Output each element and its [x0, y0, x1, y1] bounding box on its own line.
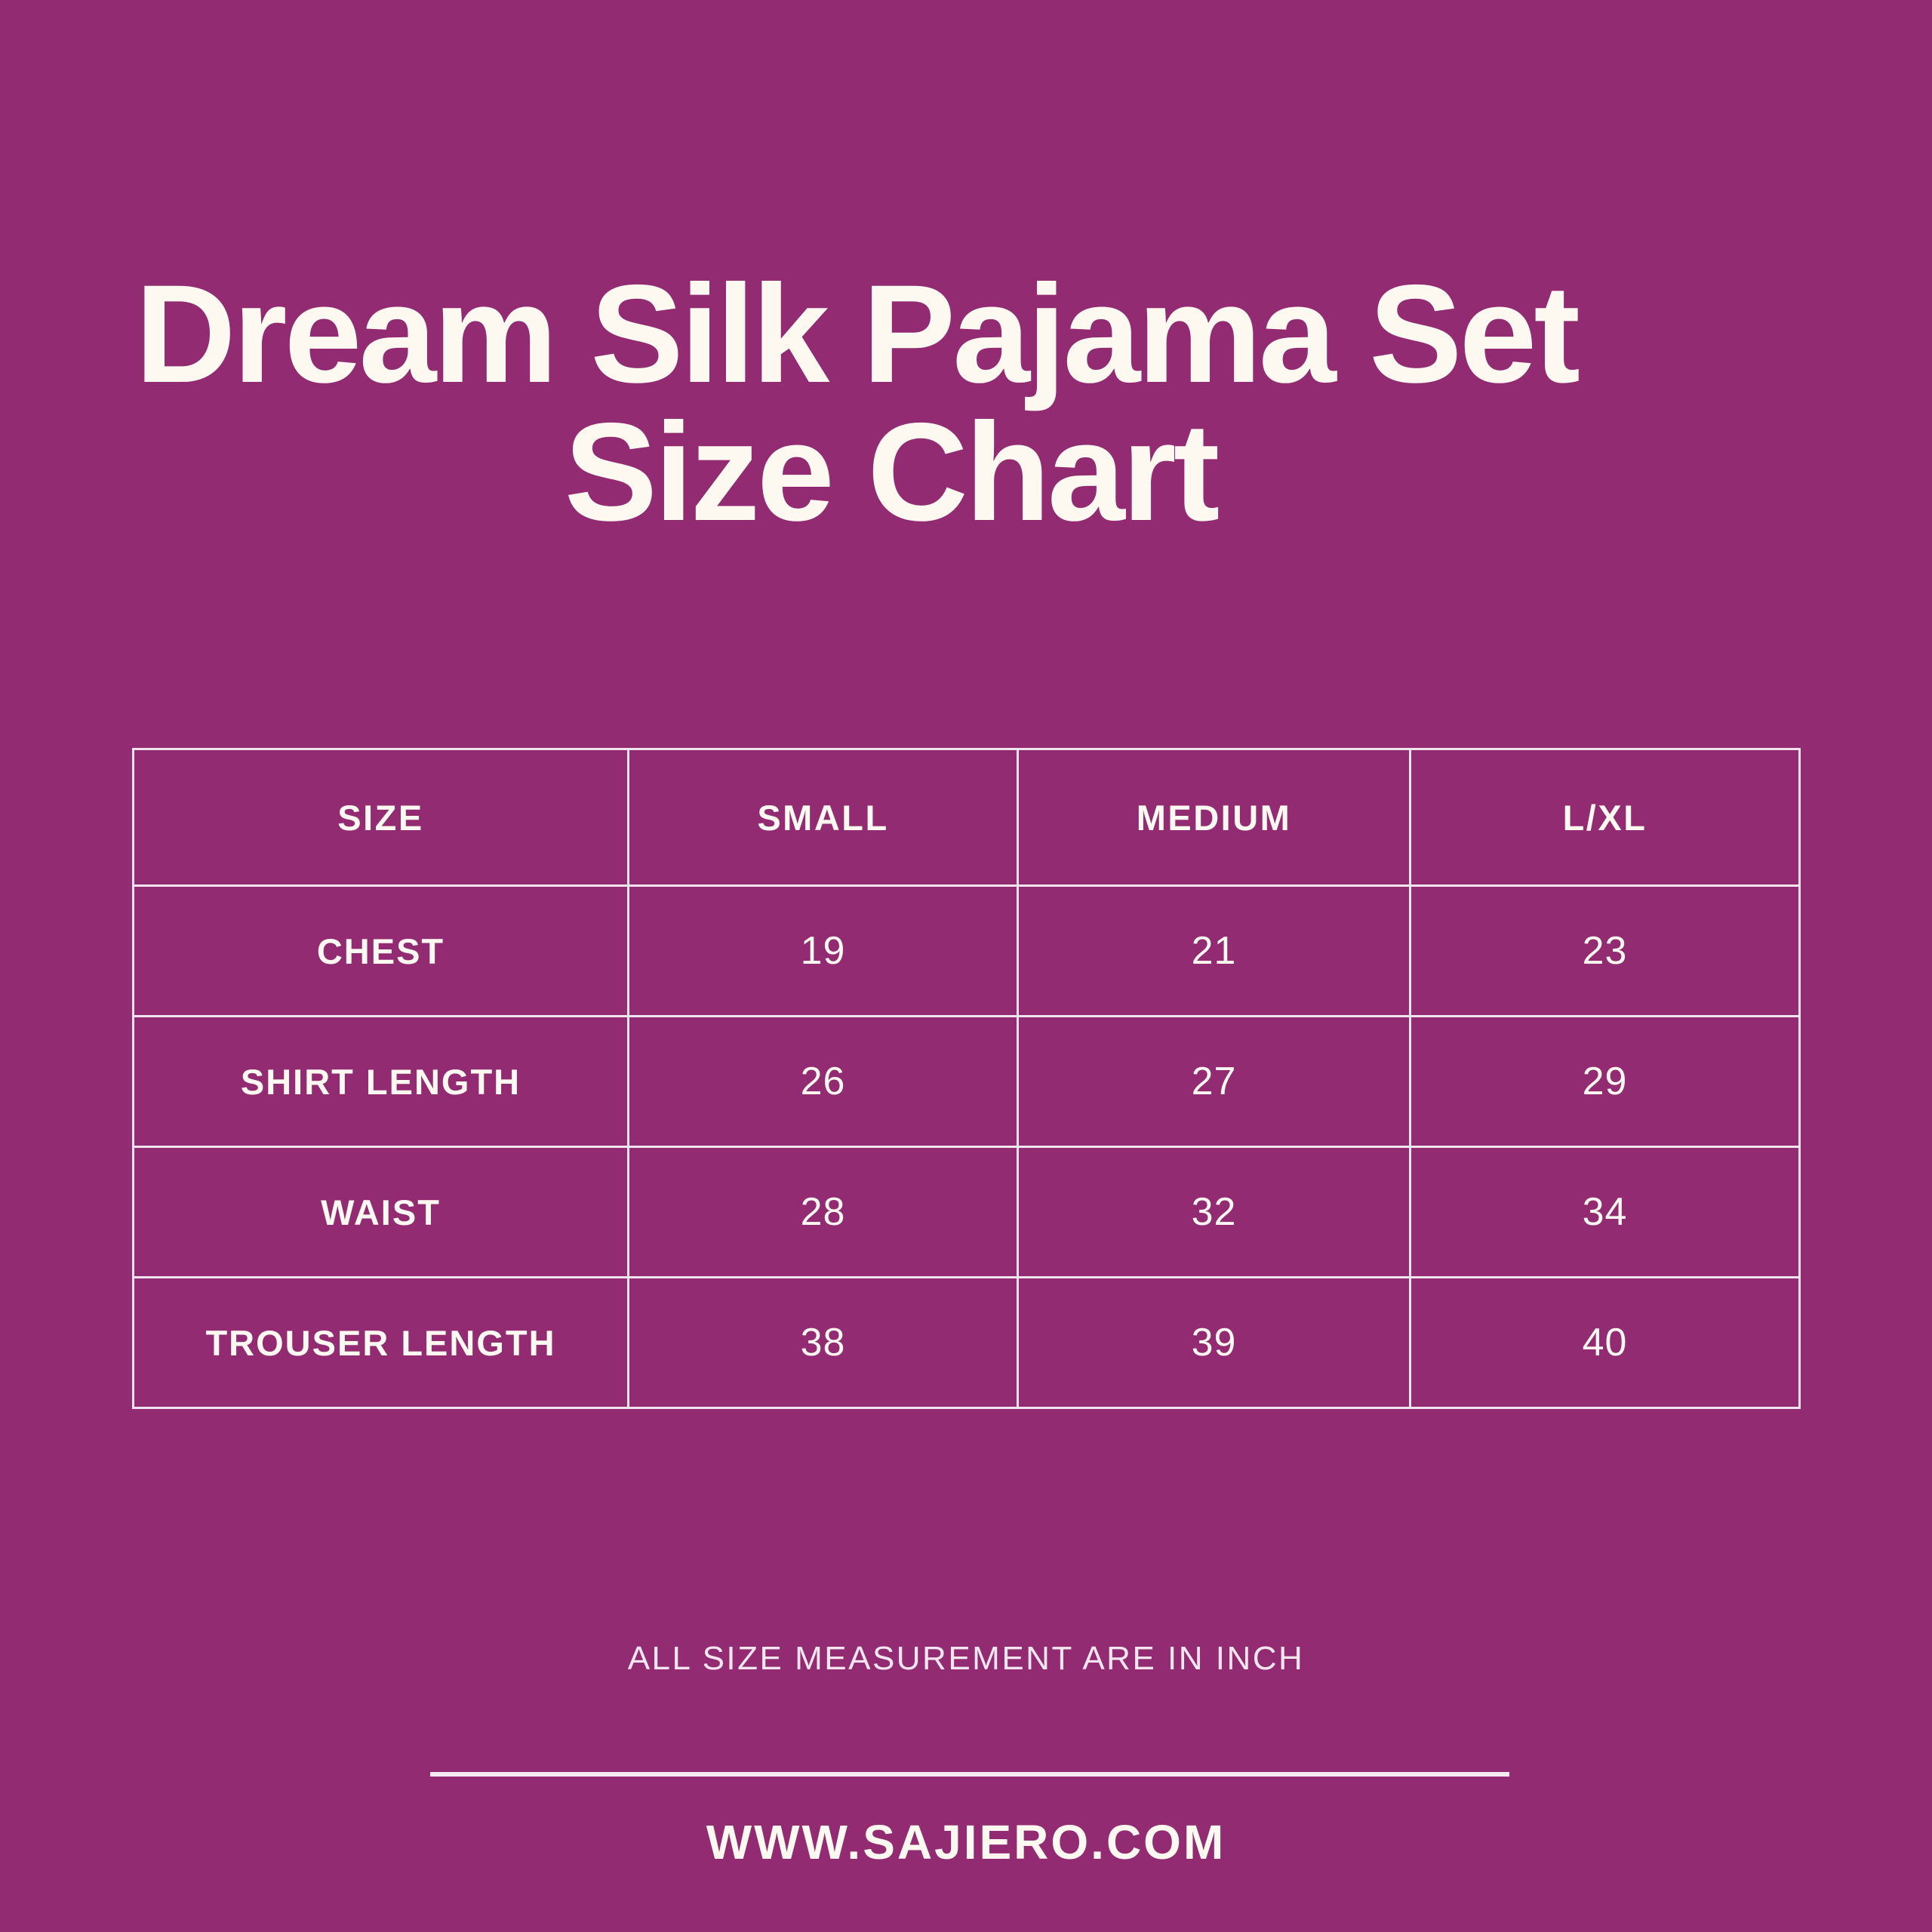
title-line-2: Size Chart: [132, 404, 1800, 542]
cell-shirt-length-medium: 27: [1018, 1017, 1411, 1147]
cell-chest-small: 19: [629, 886, 1018, 1017]
cell-trouser-length-medium: 39: [1018, 1278, 1411, 1408]
column-header-size: SIZE: [134, 749, 629, 886]
measurement-note: ALL SIZE MEASUREMENT ARE IN INCH: [0, 1640, 1932, 1678]
cell-trouser-length-lxl: 40: [1411, 1278, 1800, 1408]
row-label-chest: CHEST: [134, 886, 629, 1017]
row-label-trouser-length: TROUSER LENGTH: [134, 1278, 629, 1408]
cell-shirt-length-small: 26: [629, 1017, 1018, 1147]
row-label-waist: WAIST: [134, 1147, 629, 1278]
footer-divider: [430, 1772, 1509, 1777]
cell-waist-medium: 32: [1018, 1147, 1411, 1278]
column-header-lxl: L/XL: [1411, 749, 1800, 886]
page-title: Dream Silk Pajama Set Size Chart: [132, 266, 1800, 542]
table-row: TROUSER LENGTH 38 39 40: [134, 1278, 1800, 1408]
column-header-small: SMALL: [629, 749, 1018, 886]
table-row: CHEST 19 21 23: [134, 886, 1800, 1017]
table-row: SHIRT LENGTH 26 27 29: [134, 1017, 1800, 1147]
cell-waist-lxl: 34: [1411, 1147, 1800, 1278]
column-header-medium: MEDIUM: [1018, 749, 1411, 886]
row-label-shirt-length: SHIRT LENGTH: [134, 1017, 629, 1147]
cell-waist-small: 28: [629, 1147, 1018, 1278]
size-chart-table: SIZE SMALL MEDIUM L/XL CHEST 19 21 23 SH…: [132, 748, 1801, 1409]
website-url: WWW.SAJIERO.COM: [0, 1814, 1932, 1870]
size-chart-poster: Dream Silk Pajama Set Size Chart SIZE SM…: [0, 0, 1932, 1932]
table-row: WAIST 28 32 34: [134, 1147, 1800, 1278]
cell-trouser-length-small: 38: [629, 1278, 1018, 1408]
table-header-row: SIZE SMALL MEDIUM L/XL: [134, 749, 1800, 886]
table-body: CHEST 19 21 23 SHIRT LENGTH 26 27 29 WAI…: [134, 886, 1800, 1408]
table-header: SIZE SMALL MEDIUM L/XL: [134, 749, 1800, 886]
cell-chest-lxl: 23: [1411, 886, 1800, 1017]
title-line-1: Dream Silk Pajama Set: [132, 266, 1800, 404]
size-table-container: SIZE SMALL MEDIUM L/XL CHEST 19 21 23 SH…: [132, 748, 1798, 1409]
cell-chest-medium: 21: [1018, 886, 1411, 1017]
cell-shirt-length-lxl: 29: [1411, 1017, 1800, 1147]
